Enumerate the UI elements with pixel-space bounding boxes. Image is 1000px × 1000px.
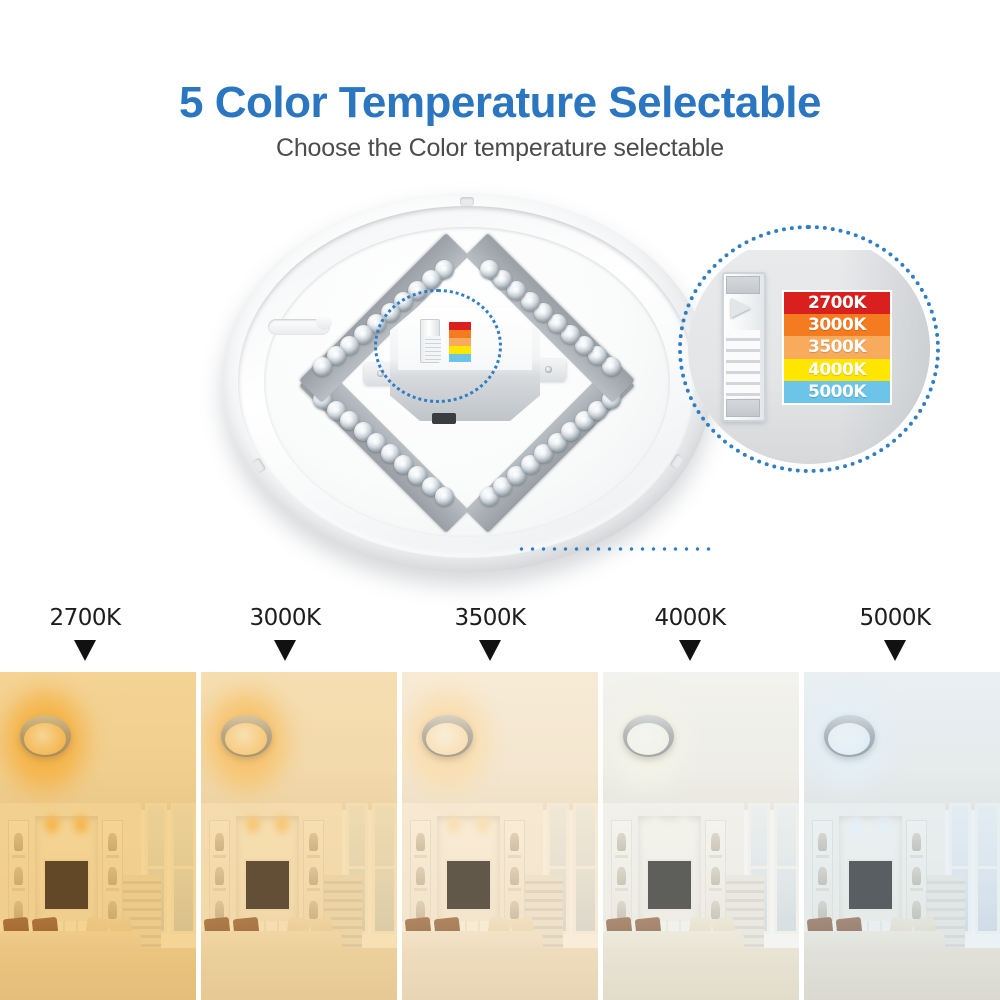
fixture-mount-tab bbox=[460, 197, 474, 206]
triangle-down-icon bbox=[479, 640, 501, 661]
fixture-wire-slot bbox=[268, 319, 330, 335]
room-photo-panel bbox=[402, 672, 598, 1000]
driver-connector bbox=[432, 413, 456, 424]
header: 5 Color Temperature Selectable Choose th… bbox=[0, 0, 1000, 185]
page-subtitle: Choose the Color temperature selectable bbox=[0, 134, 1000, 163]
cct-panel-label: 3500K bbox=[454, 605, 525, 631]
room-photo-panel bbox=[0, 672, 196, 1000]
page-title: 5 Color Temperature Selectable bbox=[0, 78, 1000, 128]
triangle-down-icon bbox=[884, 640, 906, 661]
magnifier-callout: 2700K3000K3500K4000K5000K bbox=[678, 225, 940, 473]
triangle-down-icon bbox=[679, 640, 701, 661]
room-scene bbox=[804, 672, 1000, 1000]
room-photo-panel bbox=[804, 672, 1000, 1000]
comparison-label-row: 2700K3000K3500K4000K5000K bbox=[0, 595, 1000, 672]
room-scene bbox=[0, 672, 196, 1000]
led-lens bbox=[480, 260, 499, 279]
color-temperature-highlight bbox=[402, 672, 598, 1000]
cct-panel-label: 3000K bbox=[249, 605, 320, 631]
magnifier-ring bbox=[678, 225, 940, 473]
room-comparison-strip bbox=[0, 672, 1000, 1000]
color-temperature-highlight bbox=[603, 672, 799, 1000]
product-hero: 2700K3000K3500K4000K5000K bbox=[0, 185, 1000, 595]
color-temperature-highlight bbox=[201, 672, 397, 1000]
led-ceiling-fixture bbox=[222, 193, 712, 573]
triangle-down-icon bbox=[274, 640, 296, 661]
room-photo-panel bbox=[201, 672, 397, 1000]
screw-icon bbox=[545, 366, 552, 373]
triangle-down-icon bbox=[74, 640, 96, 661]
color-temperature-highlight bbox=[0, 672, 196, 1000]
room-scene bbox=[603, 672, 799, 1000]
cct-panel-label: 4000K bbox=[654, 605, 725, 631]
room-photo-panel bbox=[603, 672, 799, 1000]
callout-highlight-circle bbox=[374, 289, 502, 403]
color-temperature-highlight bbox=[804, 672, 1000, 1000]
cct-panel-label: 5000K bbox=[859, 605, 930, 631]
callout-connector-line bbox=[516, 547, 716, 551]
room-scene bbox=[402, 672, 598, 1000]
room-scene bbox=[201, 672, 397, 1000]
cct-panel-label: 2700K bbox=[49, 605, 120, 631]
